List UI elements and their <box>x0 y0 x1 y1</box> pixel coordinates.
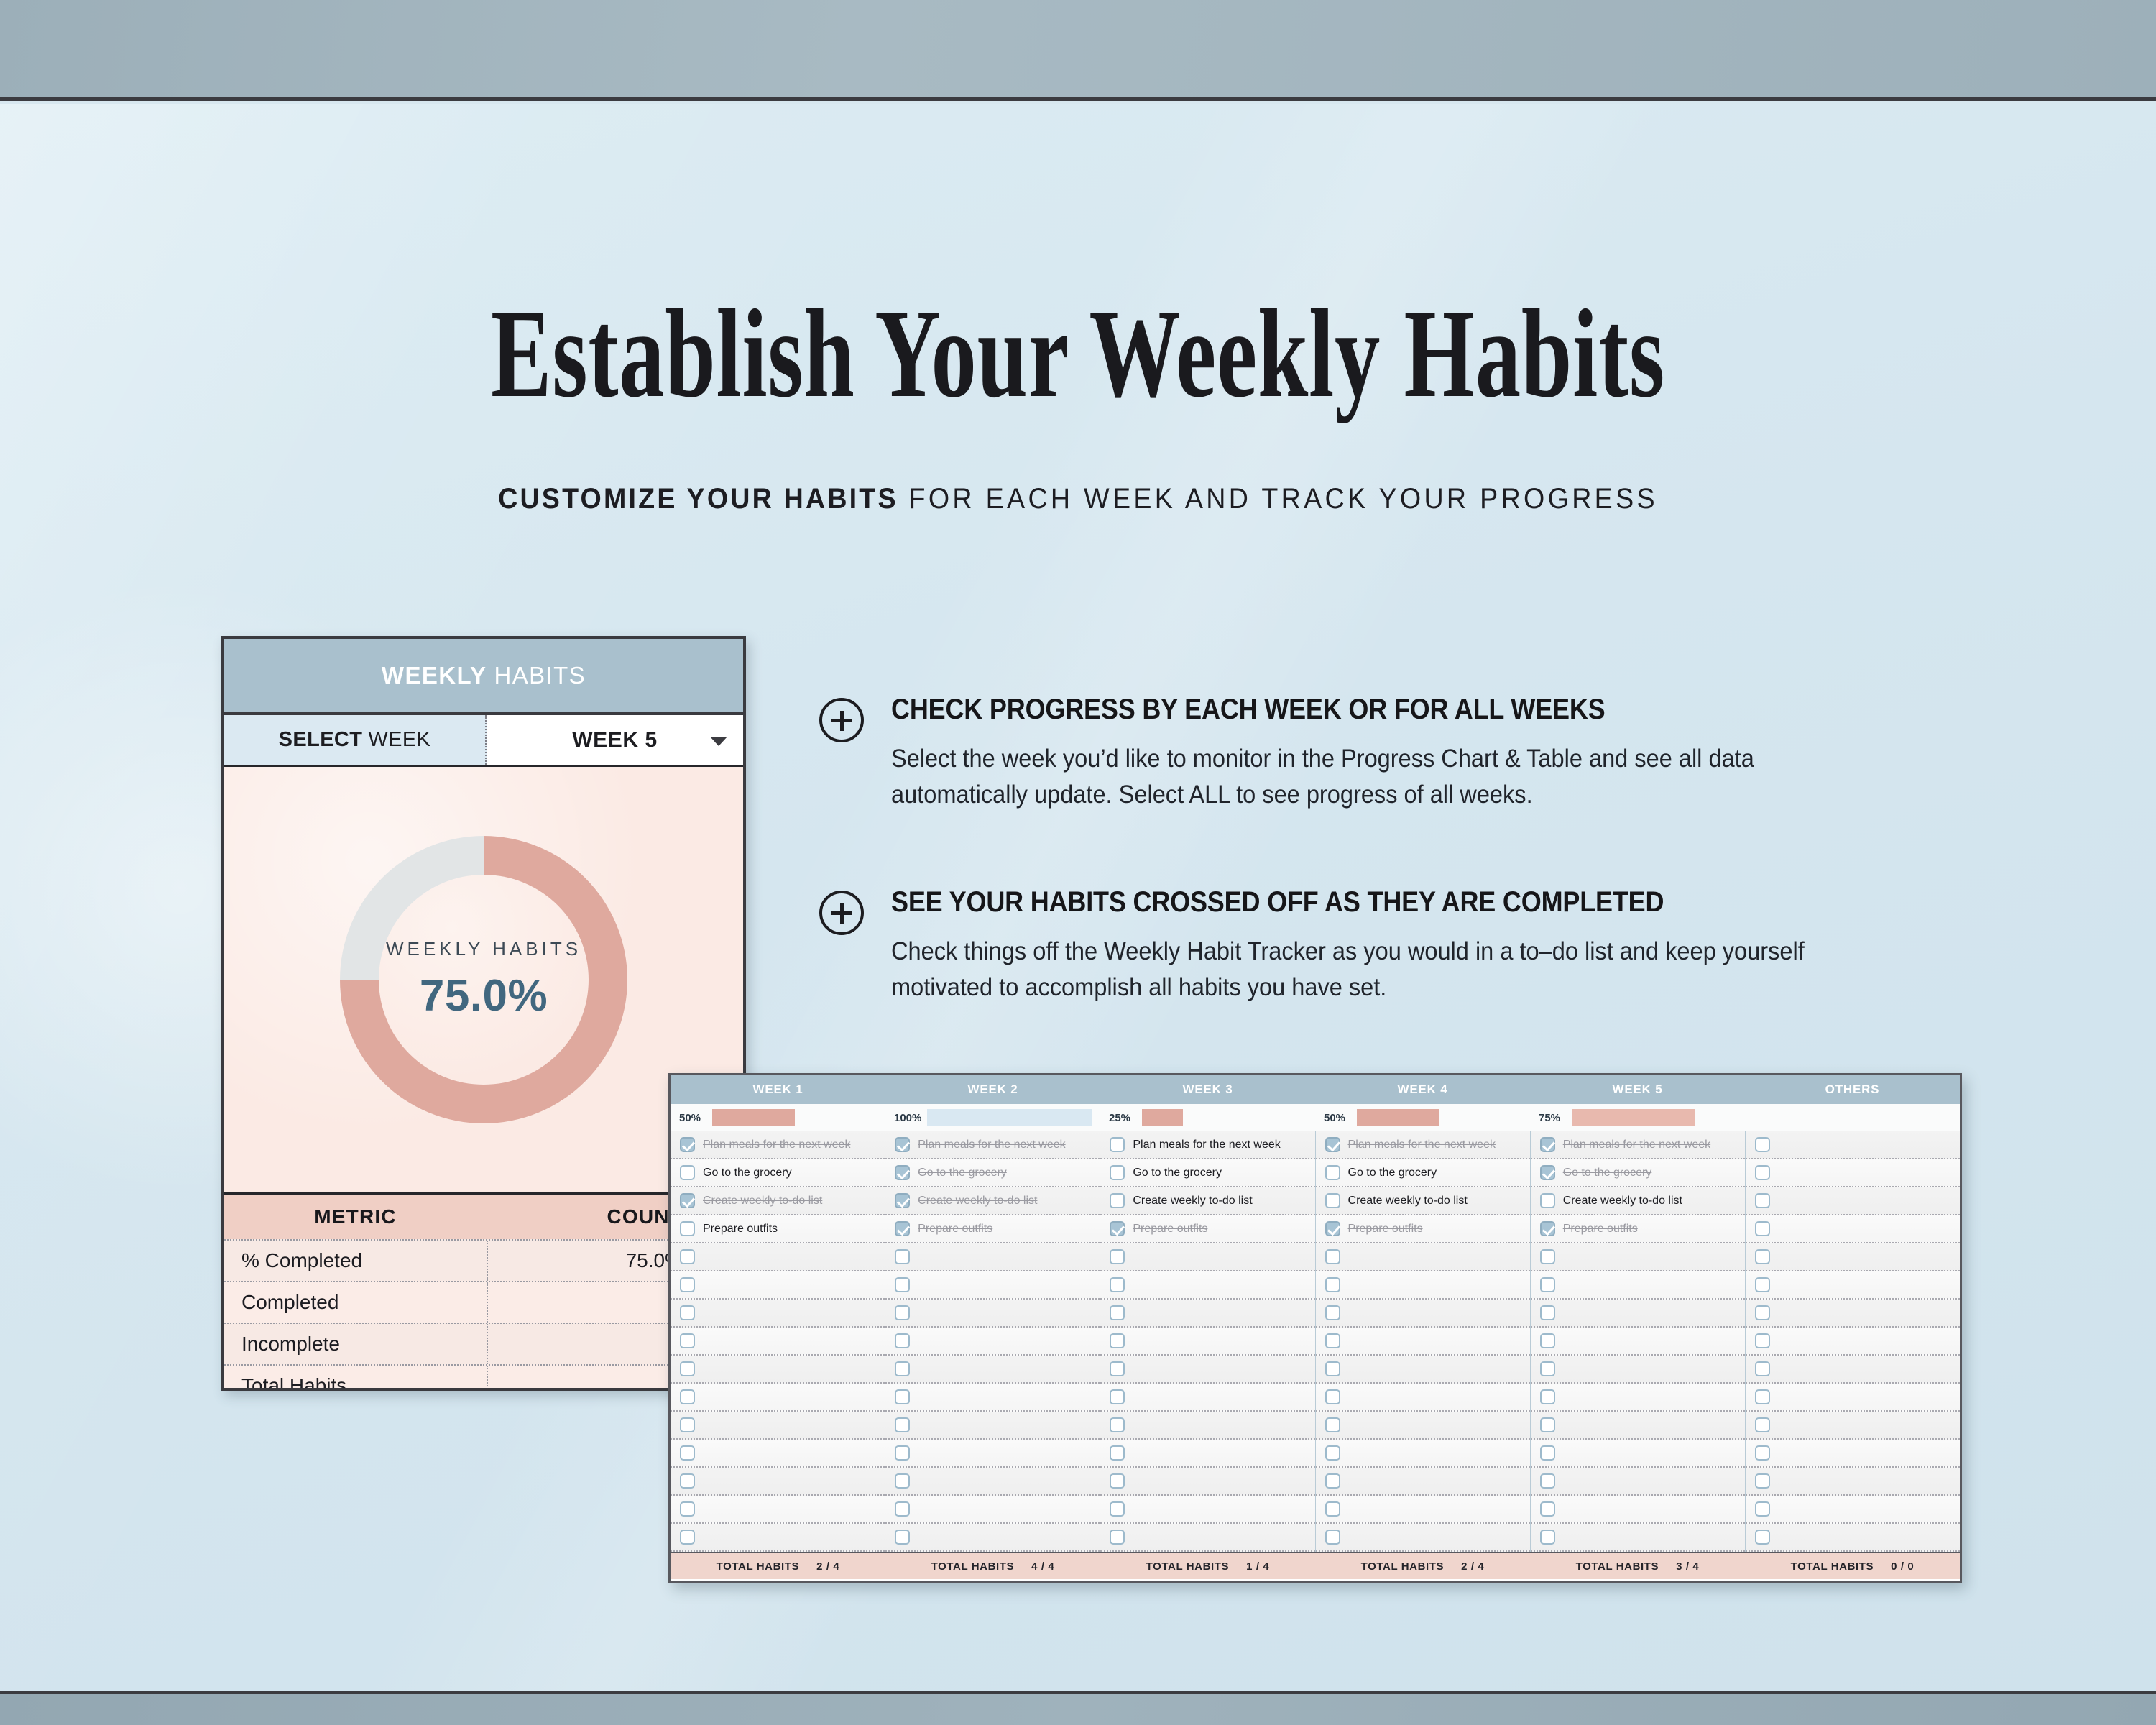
tracker-cell[interactable] <box>1100 1496 1314 1524</box>
checkbox-unchecked-icon[interactable] <box>1540 1193 1555 1208</box>
weekly-habit-tracker-table: WEEK 1WEEK 2WEEK 3WEEK 4WEEK 5OTHERS 50%… <box>668 1073 1962 1583</box>
progress-bar-track <box>927 1109 1092 1126</box>
tracker-cell[interactable] <box>1316 1468 1530 1496</box>
tracker-cell[interactable]: Go to the grocery <box>1531 1159 1745 1187</box>
checkbox-unchecked-icon[interactable] <box>895 1445 910 1460</box>
progress-percent-label: 25% <box>1109 1112 1142 1124</box>
progress-cell <box>1745 1104 1960 1131</box>
widget-title: WEEKLY HABITS <box>224 639 743 715</box>
checkbox-unchecked-icon[interactable] <box>1325 1361 1340 1376</box>
tracker-cell[interactable] <box>1746 1440 1960 1468</box>
tracker-cell[interactable] <box>1316 1356 1530 1384</box>
tracker-cell[interactable] <box>1746 1524 1960 1552</box>
checkbox-unchecked-icon[interactable] <box>680 1389 695 1404</box>
tracker-column-header: WEEK 1 <box>671 1075 885 1104</box>
select-week-label: SELECT WEEK <box>224 715 487 765</box>
tracker-cell[interactable]: Go to the grocery <box>1100 1159 1314 1187</box>
total-habits-value: 1 / 4 <box>1246 1560 1269 1573</box>
progress-bar-track <box>1787 1109 1951 1126</box>
progress-bar-fill <box>712 1109 795 1126</box>
checkbox-checked-icon[interactable] <box>1540 1221 1555 1236</box>
metric-row: Total Habits4 <box>224 1364 743 1391</box>
tracker-column-header: WEEK 5 <box>1530 1075 1745 1104</box>
select-week-row: SELECT WEEK WEEK 5 <box>224 715 743 767</box>
tracker-cell[interactable]: Prepare outfits <box>671 1215 885 1243</box>
tracker-cell[interactable]: Prepare outfits <box>1316 1215 1530 1243</box>
tracker-cell[interactable] <box>885 1468 1100 1496</box>
checkbox-unchecked-icon[interactable] <box>1110 1529 1125 1545</box>
tracker-cell[interactable] <box>1100 1468 1314 1496</box>
checkbox-unchecked-icon[interactable] <box>1325 1193 1340 1208</box>
checkbox-unchecked-icon[interactable] <box>1540 1501 1555 1517</box>
tracker-cell[interactable] <box>671 1440 885 1468</box>
tracker-cell[interactable]: Create weekly to-do list <box>885 1187 1100 1215</box>
habit-label[interactable]: Create weekly to-do list <box>703 1195 822 1207</box>
tracker-cell[interactable] <box>1746 1356 1960 1384</box>
week-dropdown[interactable]: WEEK 5 <box>487 715 743 765</box>
circle-plus-icon <box>819 698 864 742</box>
top-decorative-band <box>0 0 2156 101</box>
checkbox-unchecked-icon[interactable] <box>1325 1165 1340 1180</box>
tracker-cell[interactable] <box>1316 1440 1530 1468</box>
checkbox-unchecked-icon[interactable] <box>1110 1501 1125 1517</box>
checkbox-unchecked-icon[interactable] <box>680 1305 695 1320</box>
tracker-total-cell: TOTAL HABITS1 / 4 <box>1100 1553 1315 1579</box>
checkbox-unchecked-icon[interactable] <box>1755 1137 1770 1152</box>
habit-label[interactable]: Go to the grocery <box>1133 1167 1222 1179</box>
checkbox-unchecked-icon[interactable] <box>1110 1333 1125 1348</box>
checkbox-unchecked-icon[interactable] <box>1540 1305 1555 1320</box>
checkbox-unchecked-icon[interactable] <box>1755 1389 1770 1404</box>
metric-name: Incomplete <box>224 1324 487 1364</box>
progress-cell: 100% <box>885 1104 1100 1131</box>
checkbox-unchecked-icon[interactable] <box>1325 1501 1340 1517</box>
habit-label[interactable]: Create weekly to-do list <box>1348 1195 1468 1207</box>
total-habits-value: 2 / 4 <box>816 1560 839 1573</box>
tracker-progress-row: 50%100%25%50%75% <box>671 1104 1960 1131</box>
tracker-cell[interactable]: Create weekly to-do list <box>1316 1187 1530 1215</box>
tracker-column-header: OTHERS <box>1745 1075 1960 1104</box>
checkbox-unchecked-icon[interactable] <box>1755 1361 1770 1376</box>
tracker-cell[interactable] <box>885 1356 1100 1384</box>
tracker-cell[interactable] <box>1316 1299 1530 1328</box>
checkbox-unchecked-icon[interactable] <box>1325 1473 1340 1489</box>
select-week-label-bold: SELECT <box>279 728 363 752</box>
tracker-column-header: WEEK 4 <box>1315 1075 1530 1104</box>
checkbox-unchecked-icon[interactable] <box>680 1473 695 1489</box>
checkbox-unchecked-icon[interactable] <box>1325 1445 1340 1460</box>
tracker-cell[interactable] <box>1746 1328 1960 1356</box>
progress-percent-label: 50% <box>1324 1112 1357 1124</box>
tracker-cell[interactable] <box>671 1496 885 1524</box>
progress-cell: 50% <box>671 1104 885 1131</box>
tracker-column: Plan meals for the next weekGo to the gr… <box>671 1131 885 1552</box>
tracker-cell[interactable] <box>671 1524 885 1552</box>
checkbox-unchecked-icon[interactable] <box>895 1333 910 1348</box>
progress-cell: 50% <box>1315 1104 1530 1131</box>
tracker-column-header: WEEK 3 <box>1100 1075 1315 1104</box>
checkbox-unchecked-icon[interactable] <box>680 1249 695 1264</box>
checkbox-checked-icon[interactable] <box>895 1137 910 1152</box>
checkbox-unchecked-icon[interactable] <box>1110 1417 1125 1432</box>
checkbox-unchecked-icon[interactable] <box>1110 1249 1125 1264</box>
checkbox-unchecked-icon[interactable] <box>895 1249 910 1264</box>
tracker-cell[interactable] <box>671 1412 885 1440</box>
tracker-cell[interactable] <box>1100 1271 1314 1299</box>
progress-cell: 25% <box>1100 1104 1315 1131</box>
tracker-column: Plan meals for the next weekGo to the gr… <box>885 1131 1100 1552</box>
checkbox-unchecked-icon[interactable] <box>1540 1361 1555 1376</box>
tracker-cell[interactable] <box>1746 1187 1960 1215</box>
tracker-cell[interactable] <box>1746 1159 1960 1187</box>
progress-percent-label: 50% <box>679 1112 712 1124</box>
tracker-cell[interactable] <box>885 1524 1100 1552</box>
tracker-footer-row: TOTAL HABITS2 / 4TOTAL HABITS4 / 4TOTAL … <box>671 1552 1960 1579</box>
tracker-cell[interactable] <box>671 1356 885 1384</box>
total-habits-value: 2 / 4 <box>1461 1560 1484 1573</box>
checkbox-unchecked-icon[interactable] <box>895 1417 910 1432</box>
progress-bar-fill <box>1357 1109 1439 1126</box>
tracker-cell[interactable] <box>1316 1384 1530 1412</box>
page-title: Establish Your Weekly Habits <box>302 291 1854 418</box>
habit-label[interactable]: Go to the grocery <box>918 1167 1007 1179</box>
checkbox-unchecked-icon[interactable] <box>1755 1165 1770 1180</box>
checkbox-unchecked-icon[interactable] <box>1755 1333 1770 1348</box>
checkbox-unchecked-icon[interactable] <box>1540 1473 1555 1489</box>
checkbox-checked-icon[interactable] <box>1540 1137 1555 1152</box>
total-habits-value: 0 / 0 <box>1891 1560 1914 1573</box>
checkbox-unchecked-icon[interactable] <box>1110 1389 1125 1404</box>
progress-percent-label: 75% <box>1539 1112 1572 1124</box>
checkbox-unchecked-icon[interactable] <box>1755 1249 1770 1264</box>
checkbox-unchecked-icon[interactable] <box>895 1473 910 1489</box>
checkbox-unchecked-icon[interactable] <box>680 1221 695 1236</box>
total-habits-label: TOTAL HABITS <box>1146 1560 1230 1573</box>
total-habits-label: TOTAL HABITS <box>1576 1560 1659 1573</box>
checkbox-unchecked-icon[interactable] <box>1755 1305 1770 1320</box>
checkbox-unchecked-icon[interactable] <box>1540 1277 1555 1292</box>
page-subtitle-emphasis: CUSTOMIZE YOUR HABITS <box>498 483 898 515</box>
metric-row: Incomplete1 <box>224 1322 743 1364</box>
tracker-cell[interactable] <box>1531 1271 1745 1299</box>
tracker-cell[interactable]: Go to the grocery <box>885 1159 1100 1187</box>
checkbox-unchecked-icon[interactable] <box>1110 1445 1125 1460</box>
checkbox-unchecked-icon[interactable] <box>895 1529 910 1545</box>
habit-label[interactable]: Go to the grocery <box>1563 1167 1652 1179</box>
tracker-cell[interactable] <box>1746 1131 1960 1159</box>
tracker-cell[interactable] <box>885 1271 1100 1299</box>
checkbox-unchecked-icon[interactable] <box>680 1529 695 1545</box>
metric-row: % Completed75.0% <box>224 1239 743 1281</box>
checkbox-unchecked-icon[interactable] <box>1755 1473 1770 1489</box>
checkbox-unchecked-icon[interactable] <box>1755 1221 1770 1236</box>
progress-donut-chart: WEEKLY HABITS 75.0% <box>224 767 743 1192</box>
circle-plus-icon <box>819 891 864 935</box>
checkbox-checked-icon[interactable] <box>1540 1165 1555 1180</box>
tracker-cell[interactable] <box>1531 1243 1745 1271</box>
checkbox-unchecked-icon[interactable] <box>1325 1333 1340 1348</box>
bottom-decorative-band <box>0 1690 2156 1725</box>
tracker-cell[interactable]: Create weekly to-do list <box>671 1187 885 1215</box>
tracker-cell[interactable]: Prepare outfits <box>885 1215 1100 1243</box>
tracker-cell[interactable] <box>1531 1524 1745 1552</box>
progress-bar-fill <box>1572 1109 1695 1126</box>
feature-heading: CHECK PROGRESS BY EACH WEEK OR FOR ALL W… <box>891 694 1835 725</box>
metric-col-header: METRIC <box>224 1195 487 1239</box>
tracker-cell[interactable] <box>1100 1524 1314 1552</box>
checkbox-unchecked-icon[interactable] <box>680 1445 695 1460</box>
checkbox-checked-icon[interactable] <box>895 1221 910 1236</box>
widget-title-bold: WEEKLY <box>382 662 487 689</box>
tracker-column: Plan meals for the next weekGo to the gr… <box>1100 1131 1315 1552</box>
checkbox-unchecked-icon[interactable] <box>680 1277 695 1292</box>
checkbox-unchecked-icon[interactable] <box>1110 1305 1125 1320</box>
tracker-cell[interactable] <box>1746 1496 1960 1524</box>
tracker-column <box>1746 1131 1960 1552</box>
tracker-cell[interactable]: Go to the grocery <box>1316 1159 1530 1187</box>
habit-label[interactable]: Plan meals for the next week <box>918 1138 1065 1151</box>
checkbox-unchecked-icon[interactable] <box>1755 1193 1770 1208</box>
checkbox-unchecked-icon[interactable] <box>1540 1249 1555 1264</box>
tracker-cell[interactable]: Plan meals for the next week <box>1531 1131 1745 1159</box>
progress-percent-label: 100% <box>894 1112 927 1124</box>
checkbox-unchecked-icon[interactable] <box>1110 1361 1125 1376</box>
total-habits-label: TOTAL HABITS <box>931 1560 1015 1573</box>
checkbox-checked-icon[interactable] <box>895 1165 910 1180</box>
tracker-cell[interactable] <box>1100 1356 1314 1384</box>
tracker-cell[interactable] <box>1531 1440 1745 1468</box>
checkbox-unchecked-icon[interactable] <box>680 1165 695 1180</box>
widget-title-rest: HABITS <box>494 662 586 689</box>
tracker-cell[interactable] <box>1100 1299 1314 1328</box>
tracker-total-cell: TOTAL HABITS2 / 4 <box>1315 1553 1530 1579</box>
checkbox-unchecked-icon[interactable] <box>680 1417 695 1432</box>
tracker-total-cell: TOTAL HABITS2 / 4 <box>671 1553 885 1579</box>
page-subtitle: CUSTOMIZE YOUR HABITS FOR EACH WEEK AND … <box>65 483 2091 515</box>
metric-table-header: METRIC COUNT <box>224 1195 743 1239</box>
tracker-cell[interactable] <box>671 1328 885 1356</box>
habit-label[interactable]: Create weekly to-do list <box>1133 1195 1252 1207</box>
total-habits-value: 4 / 4 <box>1031 1560 1054 1573</box>
tracker-cell[interactable] <box>671 1271 885 1299</box>
checkbox-unchecked-icon[interactable] <box>1325 1305 1340 1320</box>
checkbox-unchecked-icon[interactable] <box>1540 1445 1555 1460</box>
metric-name: Total Habits <box>224 1366 487 1391</box>
tracker-cell[interactable]: Go to the grocery <box>671 1159 885 1187</box>
habit-label[interactable]: Plan meals for the next week <box>1563 1138 1710 1151</box>
checkbox-unchecked-icon[interactable] <box>1755 1501 1770 1517</box>
tracker-cell[interactable] <box>885 1243 1100 1271</box>
checkbox-unchecked-icon[interactable] <box>1755 1445 1770 1460</box>
checkbox-checked-icon[interactable] <box>680 1137 695 1152</box>
tracker-cell[interactable] <box>671 1468 885 1496</box>
tracker-total-cell: TOTAL HABITS4 / 4 <box>885 1553 1100 1579</box>
select-week-label-rest: WEEK <box>368 728 430 752</box>
habit-label[interactable]: Create weekly to-do list <box>918 1195 1037 1207</box>
tracker-cell[interactable]: Create weekly to-do list <box>1100 1187 1314 1215</box>
donut-center-value: 75.0% <box>420 970 548 1021</box>
tracker-cell[interactable]: Plan meals for the next week <box>1316 1131 1530 1159</box>
checkbox-unchecked-icon[interactable] <box>1325 1389 1340 1404</box>
checkbox-unchecked-icon[interactable] <box>1325 1277 1340 1292</box>
tracker-cell[interactable] <box>885 1496 1100 1524</box>
checkbox-checked-icon[interactable] <box>1325 1137 1340 1152</box>
checkbox-unchecked-icon[interactable] <box>895 1277 910 1292</box>
tracker-cell[interactable] <box>1531 1412 1745 1440</box>
checkbox-unchecked-icon[interactable] <box>1755 1277 1770 1292</box>
feature-block-progress: CHECK PROGRESS BY EACH WEEK OR FOR ALL W… <box>819 694 1940 812</box>
tracker-cell[interactable] <box>1316 1328 1530 1356</box>
checkbox-unchecked-icon[interactable] <box>1755 1417 1770 1432</box>
checkbox-checked-icon[interactable] <box>1110 1221 1125 1236</box>
week-dropdown-value: WEEK 5 <box>572 728 658 753</box>
tracker-cell[interactable] <box>671 1243 885 1271</box>
checkbox-unchecked-icon[interactable] <box>1110 1165 1125 1180</box>
tracker-cell[interactable] <box>1100 1384 1314 1412</box>
checkbox-unchecked-icon[interactable] <box>1325 1529 1340 1545</box>
tracker-total-cell: TOTAL HABITS0 / 0 <box>1745 1553 1960 1579</box>
checkbox-unchecked-icon[interactable] <box>1540 1529 1555 1545</box>
checkbox-checked-icon[interactable] <box>680 1193 695 1208</box>
metric-name: % Completed <box>224 1241 487 1281</box>
habit-label[interactable]: Prepare outfits <box>918 1223 992 1236</box>
page-subtitle-rest: FOR EACH WEEK AND TRACK YOUR PROGRESS <box>909 483 1658 515</box>
habit-label[interactable]: Plan meals for the next week <box>1133 1138 1280 1151</box>
tracker-cell[interactable] <box>885 1440 1100 1468</box>
checkbox-unchecked-icon[interactable] <box>1540 1417 1555 1432</box>
tracker-cell[interactable] <box>1531 1384 1745 1412</box>
checkbox-unchecked-icon[interactable] <box>1540 1333 1555 1348</box>
habit-label[interactable]: Plan meals for the next week <box>703 1138 850 1151</box>
tracker-header-row: WEEK 1WEEK 2WEEK 3WEEK 4WEEK 5OTHERS <box>671 1075 1960 1104</box>
total-habits-label: TOTAL HABITS <box>717 1560 800 1573</box>
tracker-cell[interactable] <box>1100 1328 1314 1356</box>
progress-bar-track <box>1357 1109 1521 1126</box>
habit-label[interactable]: Plan meals for the next week <box>1348 1138 1496 1151</box>
total-habits-label: TOTAL HABITS <box>1791 1560 1874 1573</box>
progress-bar-track <box>1572 1109 1736 1126</box>
checkbox-unchecked-icon[interactable] <box>1110 1137 1125 1152</box>
tracker-cell[interactable] <box>885 1412 1100 1440</box>
feature-heading: SEE YOUR HABITS CROSSED OFF AS THEY ARE … <box>891 886 1835 918</box>
tracker-cell[interactable] <box>1316 1412 1530 1440</box>
progress-bar-fill <box>927 1109 1092 1126</box>
checkbox-unchecked-icon[interactable] <box>1755 1529 1770 1545</box>
tracker-cell[interactable]: Create weekly to-do list <box>1531 1187 1745 1215</box>
slide-canvas: Establish Your Weekly Habits CUSTOMIZE Y… <box>0 104 2156 1690</box>
chevron-down-icon[interactable] <box>710 737 727 746</box>
checkbox-unchecked-icon[interactable] <box>1540 1389 1555 1404</box>
tracker-cell[interactable] <box>1316 1524 1530 1552</box>
tracker-cell[interactable]: Plan meals for the next week <box>1100 1131 1314 1159</box>
tracker-cell[interactable] <box>1531 1468 1745 1496</box>
checkbox-unchecked-icon[interactable] <box>1325 1417 1340 1432</box>
checkbox-unchecked-icon[interactable] <box>895 1361 910 1376</box>
tracker-cell[interactable] <box>1531 1328 1745 1356</box>
donut-center: WEEKLY HABITS 75.0% <box>379 875 589 1085</box>
metric-table: METRIC COUNT % Completed75.0%Completed3I… <box>224 1192 743 1391</box>
tracker-cell[interactable] <box>1746 1468 1960 1496</box>
tracker-cell[interactable] <box>1316 1271 1530 1299</box>
tracker-cell[interactable] <box>1531 1496 1745 1524</box>
tracker-body: Plan meals for the next weekGo to the gr… <box>671 1131 1960 1552</box>
checkbox-checked-icon[interactable] <box>895 1193 910 1208</box>
tracker-cell[interactable] <box>671 1299 885 1328</box>
progress-bar-track <box>712 1109 877 1126</box>
feature-block-crossed-off: SEE YOUR HABITS CROSSED OFF AS THEY ARE … <box>819 886 1940 1005</box>
checkbox-unchecked-icon[interactable] <box>895 1389 910 1404</box>
habit-label[interactable]: Prepare outfits <box>703 1223 778 1236</box>
checkbox-unchecked-icon[interactable] <box>680 1361 695 1376</box>
progress-bar-fill <box>1142 1109 1183 1126</box>
checkbox-unchecked-icon[interactable] <box>1110 1277 1125 1292</box>
tracker-cell[interactable]: Prepare outfits <box>1100 1215 1314 1243</box>
checkbox-unchecked-icon[interactable] <box>895 1305 910 1320</box>
checkbox-unchecked-icon[interactable] <box>1110 1193 1125 1208</box>
tracker-cell[interactable] <box>1316 1243 1530 1271</box>
tracker-cell[interactable] <box>1100 1440 1314 1468</box>
tracker-cell[interactable] <box>671 1384 885 1412</box>
tracker-cell[interactable] <box>1746 1215 1960 1243</box>
tracker-cell[interactable] <box>1100 1412 1314 1440</box>
tracker-cell[interactable]: Prepare outfits <box>1531 1215 1745 1243</box>
checkbox-unchecked-icon[interactable] <box>1325 1249 1340 1264</box>
feature-body: Select the week you’d like to monitor in… <box>891 741 1894 812</box>
habit-label[interactable]: Go to the grocery <box>703 1167 792 1179</box>
tracker-cell[interactable] <box>1746 1412 1960 1440</box>
tracker-total-cell: TOTAL HABITS3 / 4 <box>1530 1553 1745 1579</box>
metric-table-body: % Completed75.0%Completed3Incomplete1Tot… <box>224 1239 743 1391</box>
tracker-cell[interactable] <box>1746 1271 1960 1299</box>
tracker-cell[interactable] <box>1531 1356 1745 1384</box>
total-habits-label: TOTAL HABITS <box>1361 1560 1445 1573</box>
tracker-cell[interactable] <box>1100 1243 1314 1271</box>
checkbox-unchecked-icon[interactable] <box>680 1333 695 1348</box>
tracker-cell[interactable]: Plan meals for the next week <box>885 1131 1100 1159</box>
checkbox-unchecked-icon[interactable] <box>895 1501 910 1517</box>
checkbox-unchecked-icon[interactable] <box>680 1501 695 1517</box>
tracker-cell[interactable] <box>885 1328 1100 1356</box>
habit-label[interactable]: Create weekly to-do list <box>1563 1195 1682 1207</box>
tracker-cell[interactable] <box>885 1384 1100 1412</box>
total-habits-value: 3 / 4 <box>1676 1560 1699 1573</box>
tracker-cell[interactable] <box>1746 1243 1960 1271</box>
tracker-cell[interactable] <box>1746 1299 1960 1328</box>
donut-center-label: WEEKLY HABITS <box>386 938 581 960</box>
metric-name: Completed <box>224 1282 487 1322</box>
tracker-cell[interactable] <box>1316 1496 1530 1524</box>
checkbox-checked-icon[interactable] <box>1325 1221 1340 1236</box>
habit-label[interactable]: Go to the grocery <box>1348 1167 1437 1179</box>
tracker-cell[interactable]: Plan meals for the next week <box>671 1131 885 1159</box>
habit-label[interactable]: Prepare outfits <box>1563 1223 1638 1236</box>
checkbox-unchecked-icon[interactable] <box>1110 1473 1125 1489</box>
feature-body: Check things off the Weekly Habit Tracke… <box>891 934 1894 1005</box>
metric-row: Completed3 <box>224 1281 743 1322</box>
habit-label[interactable]: Prepare outfits <box>1348 1223 1423 1236</box>
weekly-habits-widget: WEEKLY HABITS SELECT WEEK WEEK 5 WEEKLY … <box>221 636 746 1391</box>
progress-cell: 75% <box>1530 1104 1745 1131</box>
progress-bar-track <box>1142 1109 1307 1126</box>
tracker-cell[interactable] <box>1531 1299 1745 1328</box>
tracker-column: Plan meals for the next weekGo to the gr… <box>1531 1131 1746 1552</box>
habit-label[interactable]: Prepare outfits <box>1133 1223 1207 1236</box>
tracker-cell[interactable] <box>1746 1384 1960 1412</box>
tracker-cell[interactable] <box>885 1299 1100 1328</box>
tracker-column-header: WEEK 2 <box>885 1075 1100 1104</box>
tracker-column: Plan meals for the next weekGo to the gr… <box>1316 1131 1531 1552</box>
